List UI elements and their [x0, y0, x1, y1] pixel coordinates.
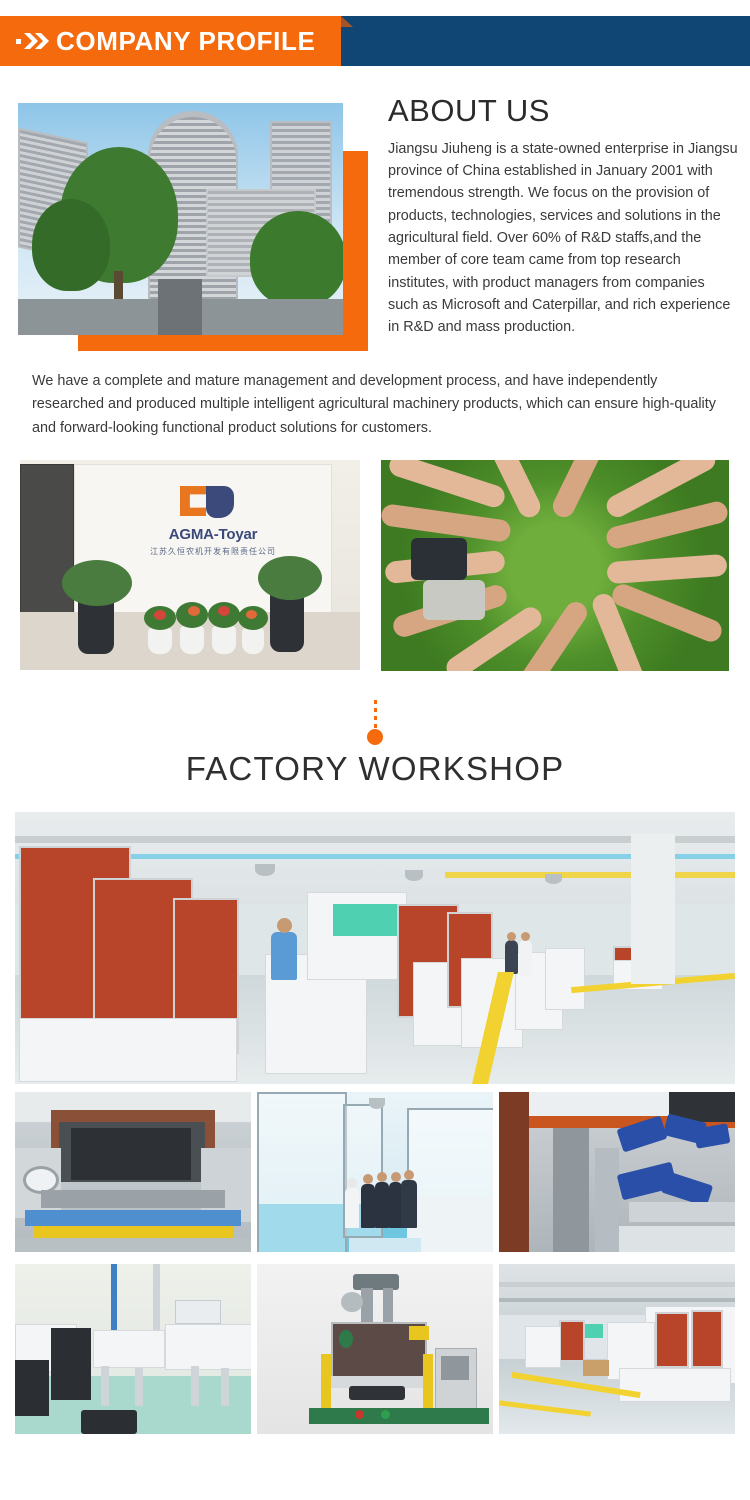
about-photo-row: AGMA-Toyar 江苏久恒农机开发有限责任公司: [0, 460, 750, 675]
factory-hero-photo: [15, 812, 735, 1084]
office-lobby-photo: AGMA-Toyar 江苏久恒农机开发有限责任公司: [20, 460, 360, 670]
office-wall-chinese-name: 江苏久恒农机开发有限责任公司: [138, 546, 288, 557]
gallery-item-3: [15, 1264, 251, 1434]
factory-photo-grid: [15, 1092, 735, 1484]
gallery-item-4: [257, 1264, 493, 1434]
about-paragraph-2: We have a complete and mature management…: [32, 370, 732, 440]
factory-section-title: FACTORY WORKSHOP: [0, 750, 750, 788]
section-divider: [0, 700, 750, 750]
about-building-photo: [18, 103, 343, 335]
dotted-line-icon: [374, 700, 377, 728]
page-header-banner: COMPANY PROFILE: [0, 16, 750, 72]
page-title: COMPANY PROFILE: [56, 16, 315, 66]
double-chevron-right-icon: [16, 31, 50, 51]
about-building-photo-wrap: [18, 103, 358, 353]
about-body: Jiangsu Jiuheng is a state-owned enterpr…: [388, 138, 738, 339]
about-text-block: ABOUT US Jiangsu Jiuheng is a state-owne…: [388, 95, 738, 339]
about-title: ABOUT US: [388, 95, 738, 128]
gallery-item-0: [15, 1092, 251, 1252]
divider-dot-icon: [367, 729, 383, 745]
gallery-item-2: [499, 1092, 735, 1252]
about-section: ABOUT US Jiangsu Jiuheng is a state-owne…: [0, 95, 750, 365]
gallery-item-1: [257, 1092, 493, 1252]
gallery-item-5: [499, 1264, 735, 1434]
office-wall-brand: AGMA-Toyar: [148, 526, 278, 543]
team-hands-photo: [381, 460, 729, 671]
